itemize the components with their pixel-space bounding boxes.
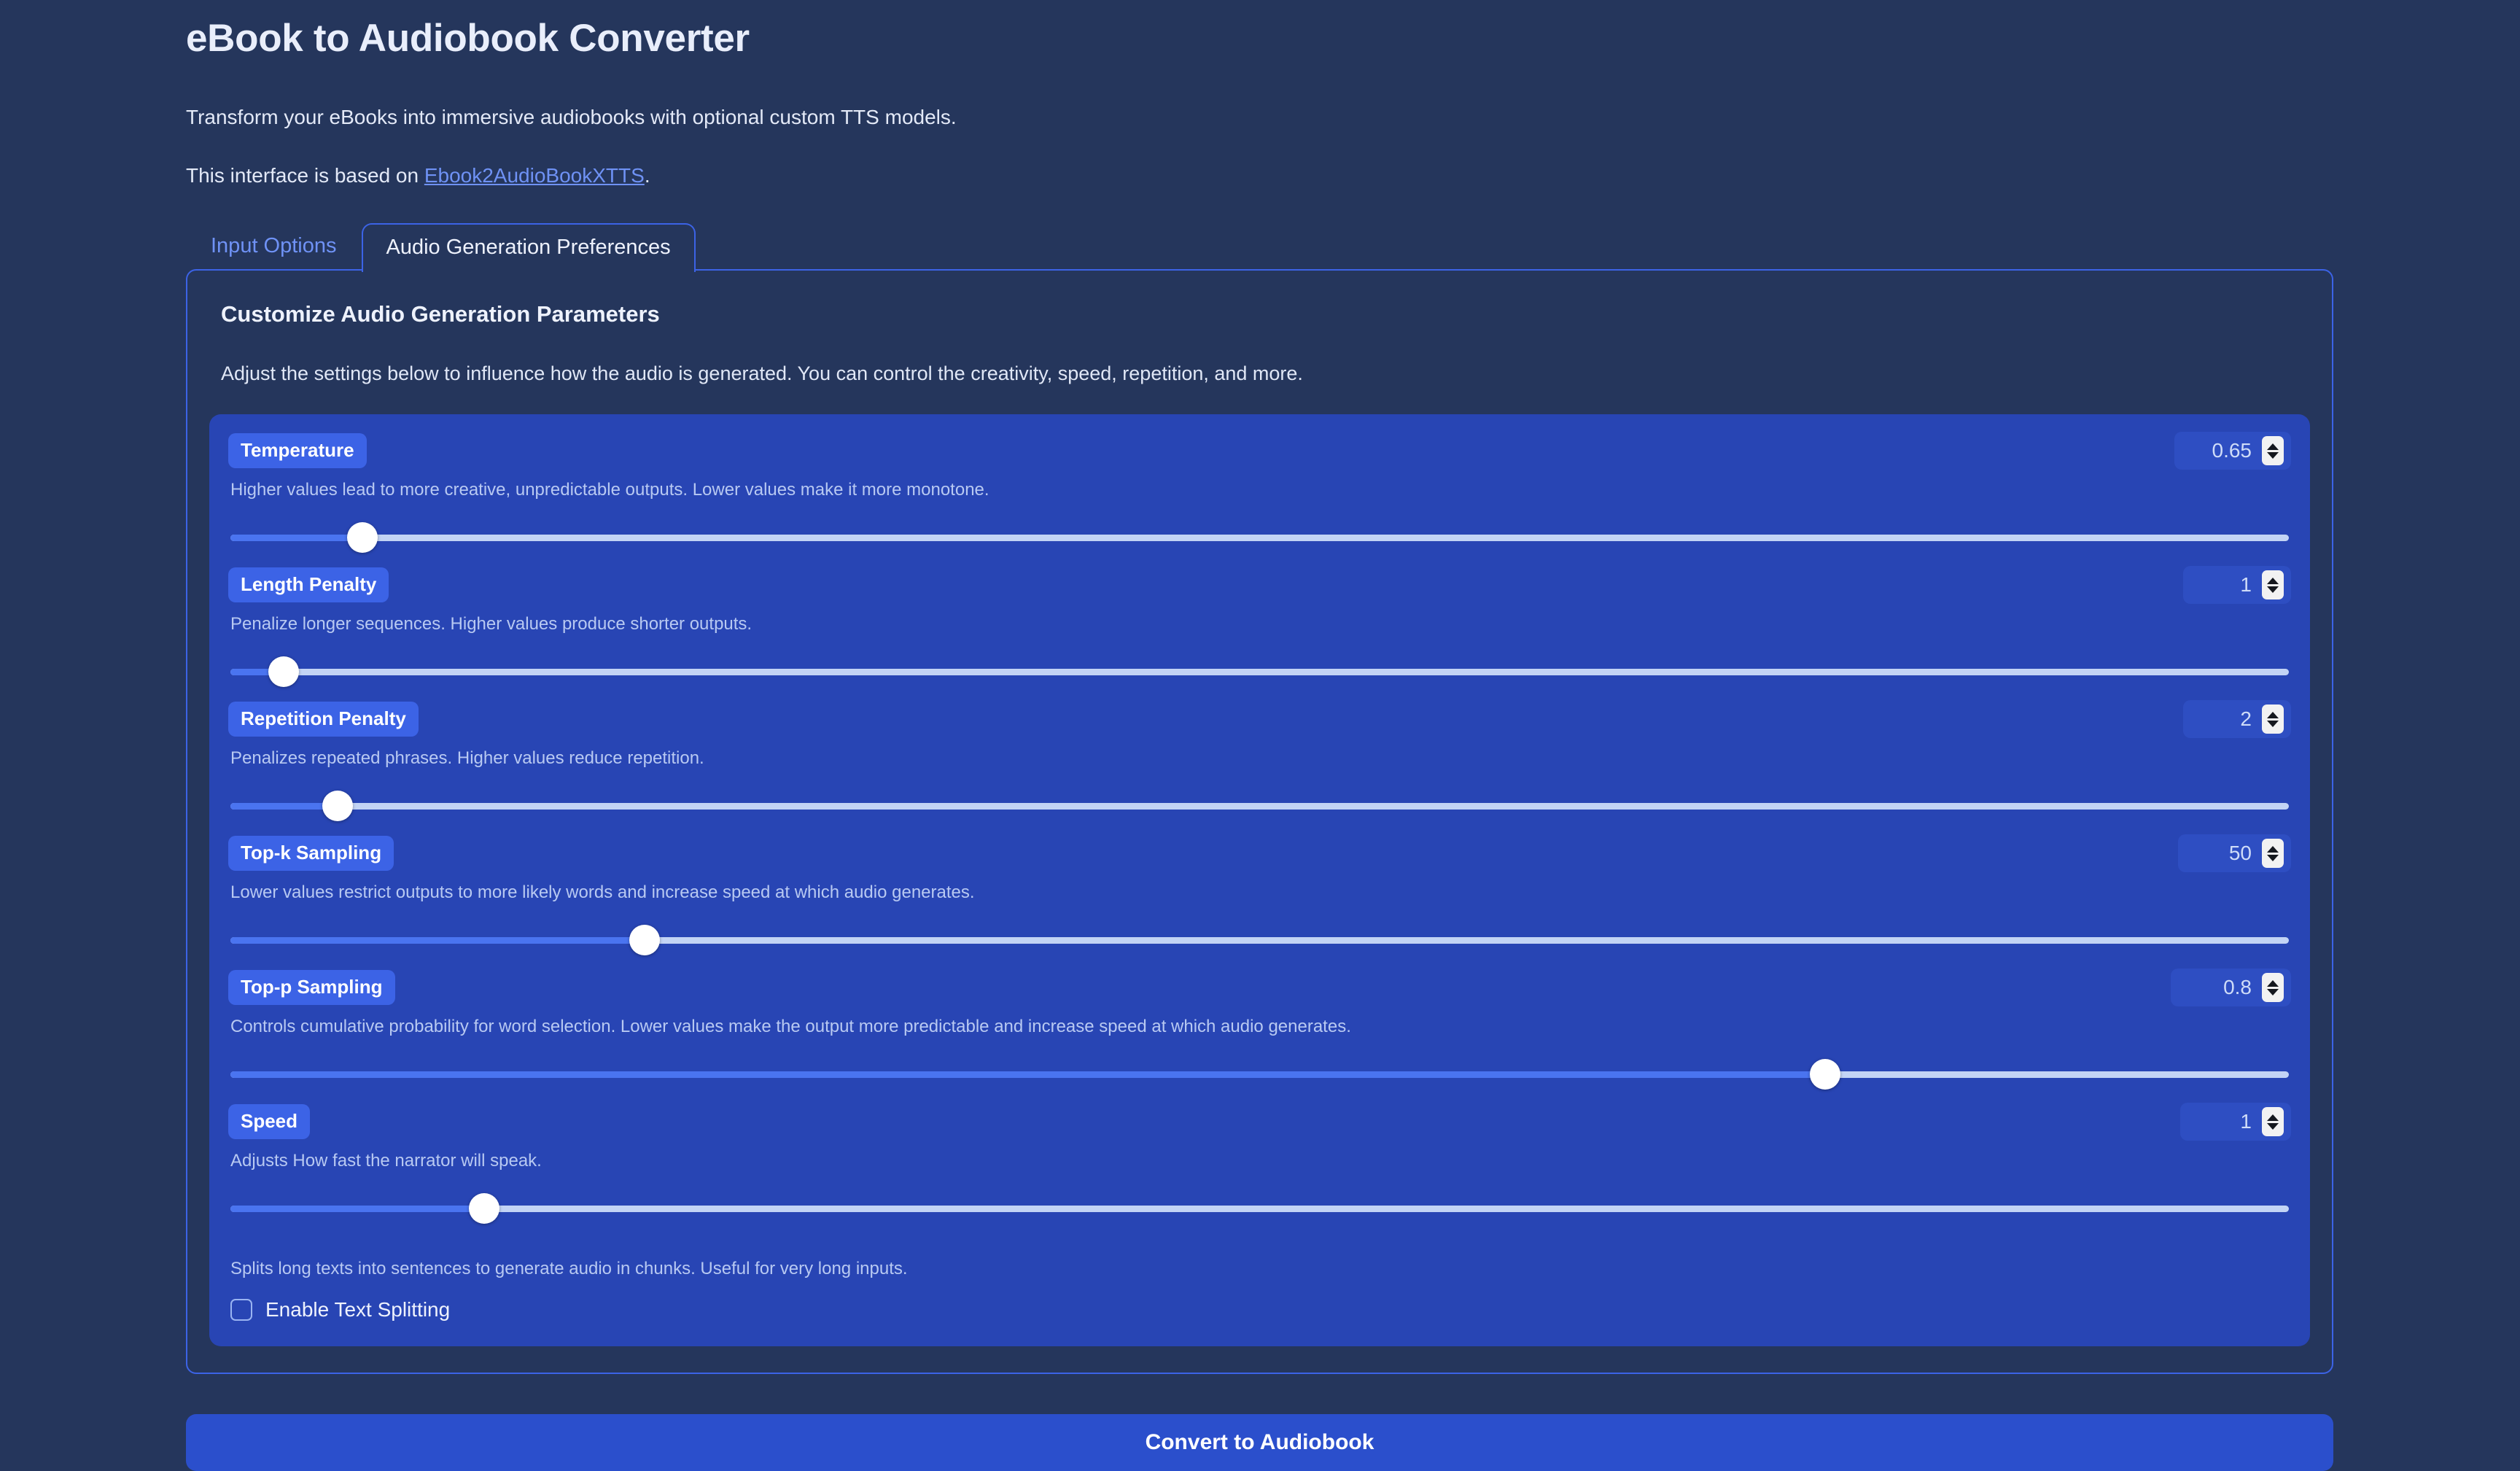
- param-top-k-sampling: Top-k Sampling 50 Lower values restrict …: [228, 834, 2291, 969]
- slider-track-fill: [230, 1206, 486, 1212]
- ebook2audiobookxtts-link[interactable]: Ebook2AudioBookXTTS: [424, 164, 645, 187]
- slider-thumb[interactable]: [322, 791, 353, 821]
- panel-title: Customize Audio Generation Parameters: [221, 301, 2310, 327]
- chevron-down-icon: [2267, 989, 2279, 995]
- slider-thumb[interactable]: [268, 656, 299, 687]
- slider-track[interactable]: [230, 937, 2289, 944]
- chevron-up-icon: [2267, 578, 2279, 584]
- param-top-p-sampling-label: Top-p Sampling: [228, 970, 395, 1005]
- param-speed-number-input[interactable]: 1: [2180, 1103, 2291, 1141]
- tab-bar: Input Options Audio Generation Preferenc…: [186, 222, 2333, 271]
- slider-track-fill: [230, 535, 364, 541]
- param-top-k-sampling-slider[interactable]: [228, 917, 2291, 963]
- param-temperature-head: Temperature 0.65: [228, 432, 2291, 470]
- param-temperature: Temperature 0.65 Higher values lead to m…: [228, 432, 2291, 566]
- param-top-k-sampling-label: Top-k Sampling: [228, 836, 394, 871]
- param-repetition-penalty-stepper[interactable]: [2262, 705, 2284, 734]
- param-length-penalty-slider[interactable]: [228, 649, 2291, 694]
- param-repetition-penalty-description: Penalizes repeated phrases. Higher value…: [230, 748, 2291, 769]
- param-length-penalty-stepper[interactable]: [2262, 570, 2284, 599]
- slider-thumb[interactable]: [469, 1193, 499, 1224]
- parameters-container: Temperature 0.65 Higher values lead to m…: [209, 414, 2310, 1346]
- param-repetition-penalty-head: Repetition Penalty 2: [228, 700, 2291, 738]
- enable-text-splitting-checkbox[interactable]: [230, 1299, 252, 1321]
- param-top-k-sampling-stepper[interactable]: [2262, 839, 2284, 868]
- param-top-k-sampling-head: Top-k Sampling 50: [228, 834, 2291, 872]
- param-temperature-slider[interactable]: [228, 515, 2291, 560]
- param-length-penalty-number-input[interactable]: 1: [2183, 566, 2291, 604]
- param-repetition-penalty-number-input[interactable]: 2: [2183, 700, 2291, 738]
- slider-track[interactable]: [230, 1071, 2289, 1078]
- chevron-down-icon: [2267, 855, 2279, 861]
- chevron-up-icon: [2267, 443, 2279, 450]
- param-top-p-sampling-value: 0.8: [2223, 976, 2252, 999]
- param-temperature-number-input[interactable]: 0.65: [2174, 432, 2291, 470]
- chevron-down-icon: [2267, 721, 2279, 727]
- slider-track-fill: [230, 1071, 1824, 1078]
- chevron-down-icon: [2267, 586, 2279, 593]
- tab-audio-generation-preferences[interactable]: Audio Generation Preferences: [362, 223, 696, 272]
- param-speed-value: 1: [2240, 1110, 2252, 1133]
- param-temperature-stepper[interactable]: [2262, 436, 2284, 465]
- slider-thumb[interactable]: [347, 522, 378, 553]
- param-speed-label: Speed: [228, 1104, 310, 1139]
- enable-text-splitting-row[interactable]: Enable Text Splitting: [230, 1298, 2291, 1321]
- slider-thumb[interactable]: [1810, 1059, 1840, 1090]
- page-subtitle: Transform your eBooks into immersive aud…: [186, 106, 2333, 129]
- param-repetition-penalty: Repetition Penalty 2 Penalizes repeated …: [228, 700, 2291, 834]
- chevron-down-icon: [2267, 1123, 2279, 1130]
- param-speed-head: Speed 1: [228, 1103, 2291, 1141]
- page-content: eBook to Audiobook Converter Transform y…: [186, 0, 2333, 1471]
- slider-track[interactable]: [230, 1206, 2289, 1212]
- based-on-line: This interface is based on Ebook2AudioBo…: [186, 164, 2333, 187]
- based-on-suffix: .: [645, 164, 650, 187]
- param-top-p-sampling-head: Top-p Sampling 0.8: [228, 969, 2291, 1006]
- slider-track[interactable]: [230, 669, 2289, 675]
- app-root: eBook to Audiobook Converter Transform y…: [0, 0, 2520, 1384]
- slider-track[interactable]: [230, 535, 2289, 541]
- param-top-p-sampling: Top-p Sampling 0.8 Controls cumulative p…: [228, 969, 2291, 1103]
- slider-thumb[interactable]: [629, 925, 660, 955]
- param-speed-description: Adjusts How fast the narrator will speak…: [230, 1151, 2291, 1171]
- param-speed-slider[interactable]: [228, 1186, 2291, 1231]
- param-speed: Speed 1 Adjusts How fast the narrator wi…: [228, 1103, 2291, 1237]
- enable-text-splitting-label[interactable]: Enable Text Splitting: [265, 1298, 450, 1321]
- param-top-p-sampling-stepper[interactable]: [2262, 973, 2284, 1002]
- audio-generation-panel: Customize Audio Generation Parameters Ad…: [186, 269, 2333, 1374]
- param-temperature-label: Temperature: [228, 433, 367, 468]
- param-top-k-sampling-description: Lower values restrict outputs to more li…: [230, 882, 2291, 903]
- param-length-penalty-label: Length Penalty: [228, 567, 389, 602]
- param-top-p-sampling-description: Controls cumulative probability for word…: [230, 1017, 2291, 1037]
- chevron-up-icon: [2267, 980, 2279, 987]
- chevron-up-icon: [2267, 712, 2279, 718]
- based-on-prefix: This interface is based on: [186, 164, 424, 187]
- param-temperature-description: Higher values lead to more creative, unp…: [230, 480, 2291, 500]
- param-top-p-sampling-number-input[interactable]: 0.8: [2171, 969, 2291, 1006]
- page-title: eBook to Audiobook Converter: [186, 0, 2333, 61]
- param-length-penalty-description: Penalize longer sequences. Higher values…: [230, 614, 2291, 634]
- slider-track[interactable]: [230, 803, 2289, 810]
- param-length-penalty-head: Length Penalty 1: [228, 566, 2291, 604]
- param-repetition-penalty-value: 2: [2240, 707, 2252, 731]
- slider-track-fill: [230, 937, 646, 944]
- param-length-penalty: Length Penalty 1 Penalize longer sequenc…: [228, 566, 2291, 700]
- convert-to-audiobook-button[interactable]: Convert to Audiobook: [186, 1414, 2333, 1471]
- param-top-p-sampling-slider[interactable]: [228, 1052, 2291, 1097]
- panel-description: Adjust the settings below to influence h…: [221, 362, 2310, 385]
- chevron-down-icon: [2267, 452, 2279, 459]
- param-temperature-value: 0.65: [2212, 439, 2252, 462]
- param-repetition-penalty-label: Repetition Penalty: [228, 702, 419, 737]
- param-speed-stepper[interactable]: [2262, 1107, 2284, 1136]
- tab-input-options[interactable]: Input Options: [186, 222, 362, 271]
- param-repetition-penalty-slider[interactable]: [228, 783, 2291, 828]
- text-splitting-description: Splits long texts into sentences to gene…: [230, 1259, 2291, 1279]
- chevron-up-icon: [2267, 1114, 2279, 1121]
- param-top-k-sampling-value: 50: [2229, 842, 2252, 865]
- param-length-penalty-value: 1: [2240, 573, 2252, 597]
- param-top-k-sampling-number-input[interactable]: 50: [2178, 834, 2291, 872]
- chevron-up-icon: [2267, 846, 2279, 853]
